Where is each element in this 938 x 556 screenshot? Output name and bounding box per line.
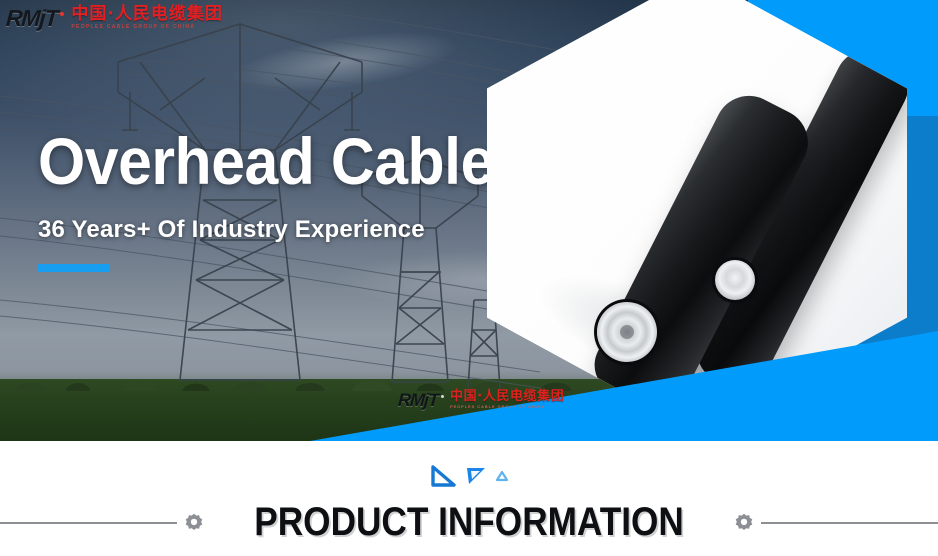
divider-line-right [761,522,938,524]
cable-core-thick [597,302,657,362]
page-subtitle: 36 Years+ Of Industry Experience [38,216,508,244]
brand-chinese-subtitle: PEOPLES CABLE GROUP OF CHINA [71,24,222,31]
watermark-wordmark-group: RMjT [398,391,444,409]
section-title-row: PRODUCT INFORMATION [0,495,938,550]
watermark-registered-mark-icon [441,395,444,398]
accent-underline [38,264,110,272]
watermark-logo: RMjT 中国·人民电缆集团 PEOPLES CABLE GROUP OF CH… [398,390,564,409]
triangle-large-right-icon [429,464,457,488]
gear-icon [733,512,755,534]
brand-logo: RMjT 中国·人民电缆集团 PEOPLES CABLE GROUP OF CH… [6,6,223,31]
triangle-ornaments [0,459,938,493]
headline-block: Overhead Cable 36 Years+ Of Industry Exp… [38,128,508,272]
watermark-wordmark: RMjT [397,391,438,409]
watermark-chinese-block: 中国·人民电缆集团 PEOPLES CABLE GROUP OF CHINA [450,390,564,409]
registered-mark-icon [60,12,64,16]
brand-wordmark: RMjT [5,7,58,30]
product-banner-page: RMjT 中国·人民电缆集团 PEOPLES CABLE GROUP OF CH… [0,0,938,556]
brand-chinese-block: 中国·人民电缆集团 PEOPLES CABLE GROUP OF CHINA [71,6,222,31]
brand-wordmark-group: RMjT [6,7,64,30]
divider-line-left [0,522,177,524]
triangle-small-up-icon [495,470,509,482]
section-title: PRODUCT INFORMATION [254,500,684,545]
section-header: PRODUCT INFORMATION [0,441,938,556]
brand-chinese-name: 中国·人民电缆集团 [71,6,222,24]
watermark-chinese-subtitle: PEOPLES CABLE GROUP OF CHINA [450,404,564,410]
gear-icon [183,512,205,534]
page-title: Overhead Cable [38,128,470,194]
cable-core-thin [715,260,755,300]
watermark-chinese-name: 中国·人民电缆集团 [450,390,564,404]
hero-banner: RMjT 中国·人民电缆集团 PEOPLES CABLE GROUP OF CH… [0,0,938,441]
triangle-medium-down-icon [466,467,486,485]
